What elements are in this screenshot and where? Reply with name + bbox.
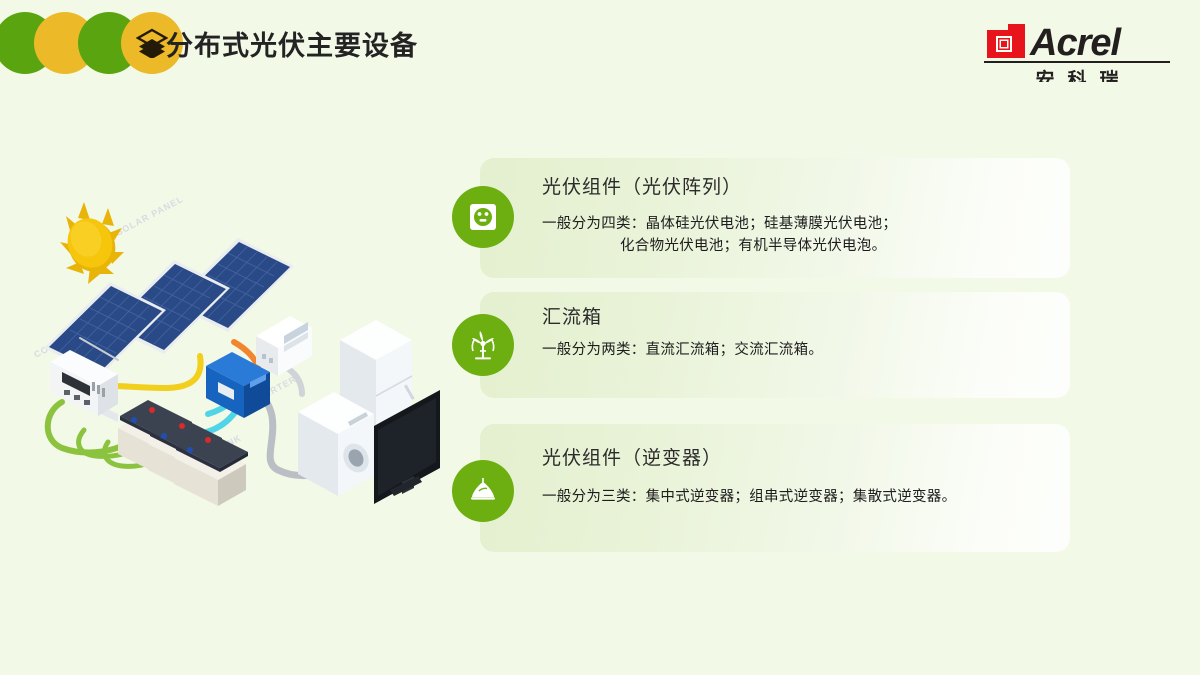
info-card-description-line-2: 化合物光伏电池；有机半导体光伏电泡。 [542,235,1060,257]
info-card-combiner-box[interactable]: 汇流箱 一般分为两类：直流汇流箱；交流汇流箱。 [480,292,1070,398]
logo-wordmark: Acrel [1030,26,1120,60]
logo-chinese-name: 安科瑞 [984,65,1170,82]
info-card-description-line-1: 一般分为四类：晶体硅光伏电池；硅基薄膜光伏电池； [542,213,1060,235]
acrel-mark-icon [984,22,1028,60]
slide-header: 分布式光伏主要设备 Acrel 安科瑞 [0,0,1200,82]
info-card-description: 一般分为四类：晶体硅光伏电池；硅基薄膜光伏电池； 化合物光伏电池；有机半导体光伏… [542,199,1060,257]
wind-turbine-icon [452,314,514,376]
solar-system-illustration: SOLAR PANEL CONTROLLER BATTERY BANK INVE… [22,190,452,520]
info-card-inverter[interactable]: 光伏组件（逆变器） 一般分为三类：集中式逆变器；组串式逆变器；集散式逆变器。 [480,424,1070,552]
layers-icon [136,28,168,58]
info-card-body: 光伏组件（光伏阵列） 一般分为四类：晶体硅光伏电池；硅基薄膜光伏电池； 化合物光… [542,158,1060,257]
info-card-description-line-1: 一般分为两类：直流汇流箱；交流汇流箱。 [542,339,1060,361]
info-card-body: 汇流箱 一般分为两类：直流汇流箱；交流汇流箱。 [542,292,1060,361]
info-card-pv-module[interactable]: 光伏组件（光伏阵列） 一般分为四类：晶体硅光伏电池；硅基薄膜光伏电池； 化合物光… [480,158,1070,278]
info-card-description-line-1: 一般分为三类：集中式逆变器；组串式逆变器；集散式逆变器。 [542,486,1060,508]
info-card-description: 一般分为三类：集中式逆变器；组串式逆变器；集散式逆变器。 [542,470,1060,508]
info-card-description: 一般分为两类：直流汇流箱；交流汇流箱。 [542,329,1060,361]
label-solar-panel: SOLAR PANEL [114,194,185,238]
power-outlet-icon [452,186,514,248]
slide-canvas: 分布式光伏主要设备 Acrel 安科瑞 [0,0,1200,675]
info-card-title: 光伏组件（逆变器） [542,424,1060,470]
pendant-lamp-icon [452,460,514,522]
sun-icon [60,202,124,284]
info-card-body: 光伏组件（逆变器） 一般分为三类：集中式逆变器；组串式逆变器；集散式逆变器。 [542,424,1060,508]
distribution-meter-box [256,316,312,376]
info-card-title: 汇流箱 [542,292,1060,329]
info-card-title: 光伏组件（光伏阵列） [542,158,1060,199]
page-title: 分布式光伏主要设备 [166,24,418,63]
acrel-logo: Acrel 安科瑞 [984,18,1170,82]
